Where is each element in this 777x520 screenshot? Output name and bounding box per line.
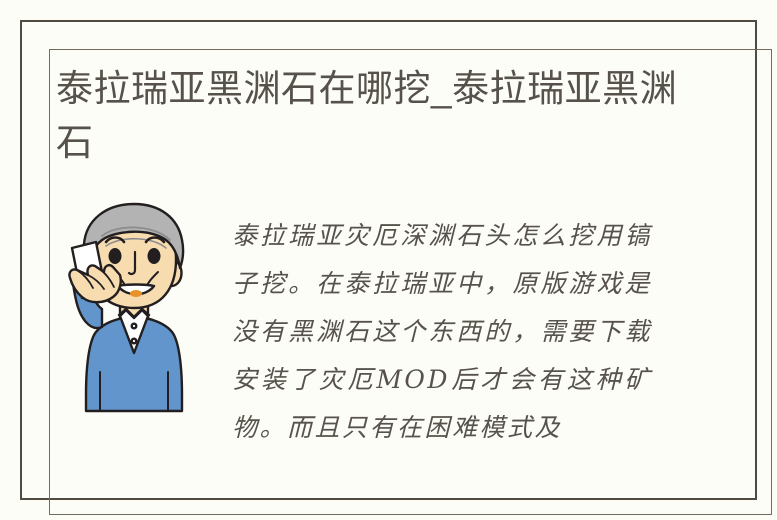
article-body-text: 泰拉瑞亚灾厄深渊石头怎么挖用镐子挖。在泰拉瑞亚中，原版游戏是没有黑渊石这个东西的…: [232, 212, 652, 452]
article-card: 泰拉瑞亚黑渊石在哪挖_泰拉瑞亚黑渊石: [0, 0, 777, 520]
page-title: 泰拉瑞亚黑渊石在哪挖_泰拉瑞亚黑渊石: [56, 62, 696, 170]
elderly-man-on-phone-illustration: [58, 196, 210, 444]
